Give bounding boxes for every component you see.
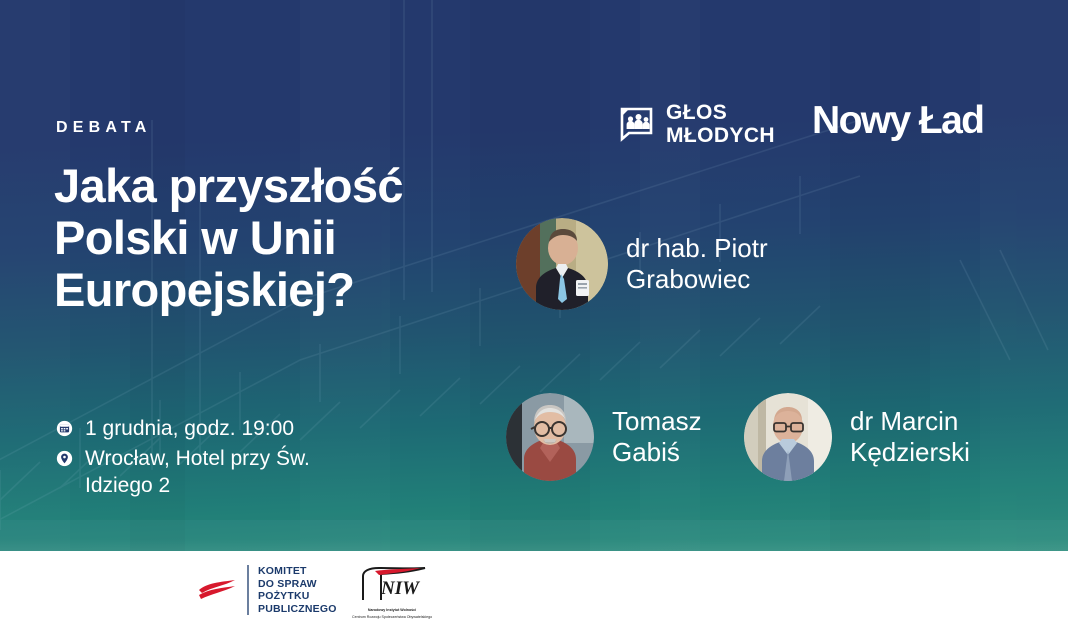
speaker-marcin-kedzierski: dr Marcin Kędzierski (744, 393, 970, 481)
speaker-name: dr Marcin Kędzierski (850, 406, 970, 468)
speaker-piotr-grabowiec: dr hab. Piotr Grabowiec (516, 218, 768, 310)
poster-content: DEBATA Jaka przyszłość Polski w Unii Eur… (0, 0, 1068, 630)
komitet-line-2: DO SPRAW (258, 578, 337, 591)
komitet-line-3: POŻYTKU (258, 590, 337, 603)
event-poster: DEBATA Jaka przyszłość Polski w Unii Eur… (0, 0, 1068, 630)
event-details: 1 grudnia, godz. 19:00 Wrocław, Hotel pr… (56, 415, 310, 499)
calendar-icon (56, 420, 73, 437)
niw-subtitle-2: Centrum Rozwoju Społeczeństwa Obywatelsk… (352, 615, 432, 620)
portrait-marcin-kedzierski (744, 393, 832, 481)
avatar (506, 393, 594, 481)
komitet-line-1: KOMITET (258, 565, 337, 578)
komitet-line-4: PUBLICZNEGO (258, 603, 337, 616)
portrait-piotr-grabowiec (516, 218, 608, 310)
niw-mark-icon: NIW (355, 567, 429, 601)
portrait-tomasz-gabis (506, 393, 594, 481)
logo-niw: NIW Narodowy Instytut Wolności Centrum R… (352, 567, 432, 619)
glos-line-1: GŁOS (666, 101, 775, 124)
logo-nowy-lad: Nowy Ład (812, 100, 983, 142)
logo-glos-mlodych: GŁOS MŁODYCH (618, 101, 775, 147)
polish-flag-icon (196, 577, 238, 603)
avatar (516, 218, 608, 310)
speaker-tomasz-gabis: Tomasz Gabiś (506, 393, 702, 481)
glos-line-2: MŁODYCH (666, 124, 775, 147)
avatar (744, 393, 832, 481)
speaker-name: dr hab. Piotr Grabowiec (626, 233, 768, 295)
kicker-label: DEBATA (56, 119, 152, 137)
sponsor-footer: KOMITET DO SPRAW POŻYTKU PUBLICZNEGO NIW… (0, 551, 1068, 630)
svg-text:NIW: NIW (380, 578, 420, 599)
event-date-row: 1 grudnia, godz. 19:00 (56, 415, 310, 442)
speaker-name: Tomasz Gabiś (612, 406, 702, 468)
location-pin-icon (56, 450, 73, 467)
speech-bubble-people-icon (618, 106, 654, 142)
niw-subtitle-1: Narodowy Instytut Wolności (352, 608, 432, 613)
logo-komitet: KOMITET DO SPRAW POŻYTKU PUBLICZNEGO (196, 565, 337, 615)
event-location-row: Wrocław, Hotel przy Św. Idziego 2 (56, 445, 310, 499)
page-title: Jaka przyszłość Polski w Unii Europejski… (54, 160, 484, 316)
event-location-text: Wrocław, Hotel przy Św. Idziego 2 (85, 445, 310, 499)
event-date-text: 1 grudnia, godz. 19:00 (85, 415, 294, 442)
